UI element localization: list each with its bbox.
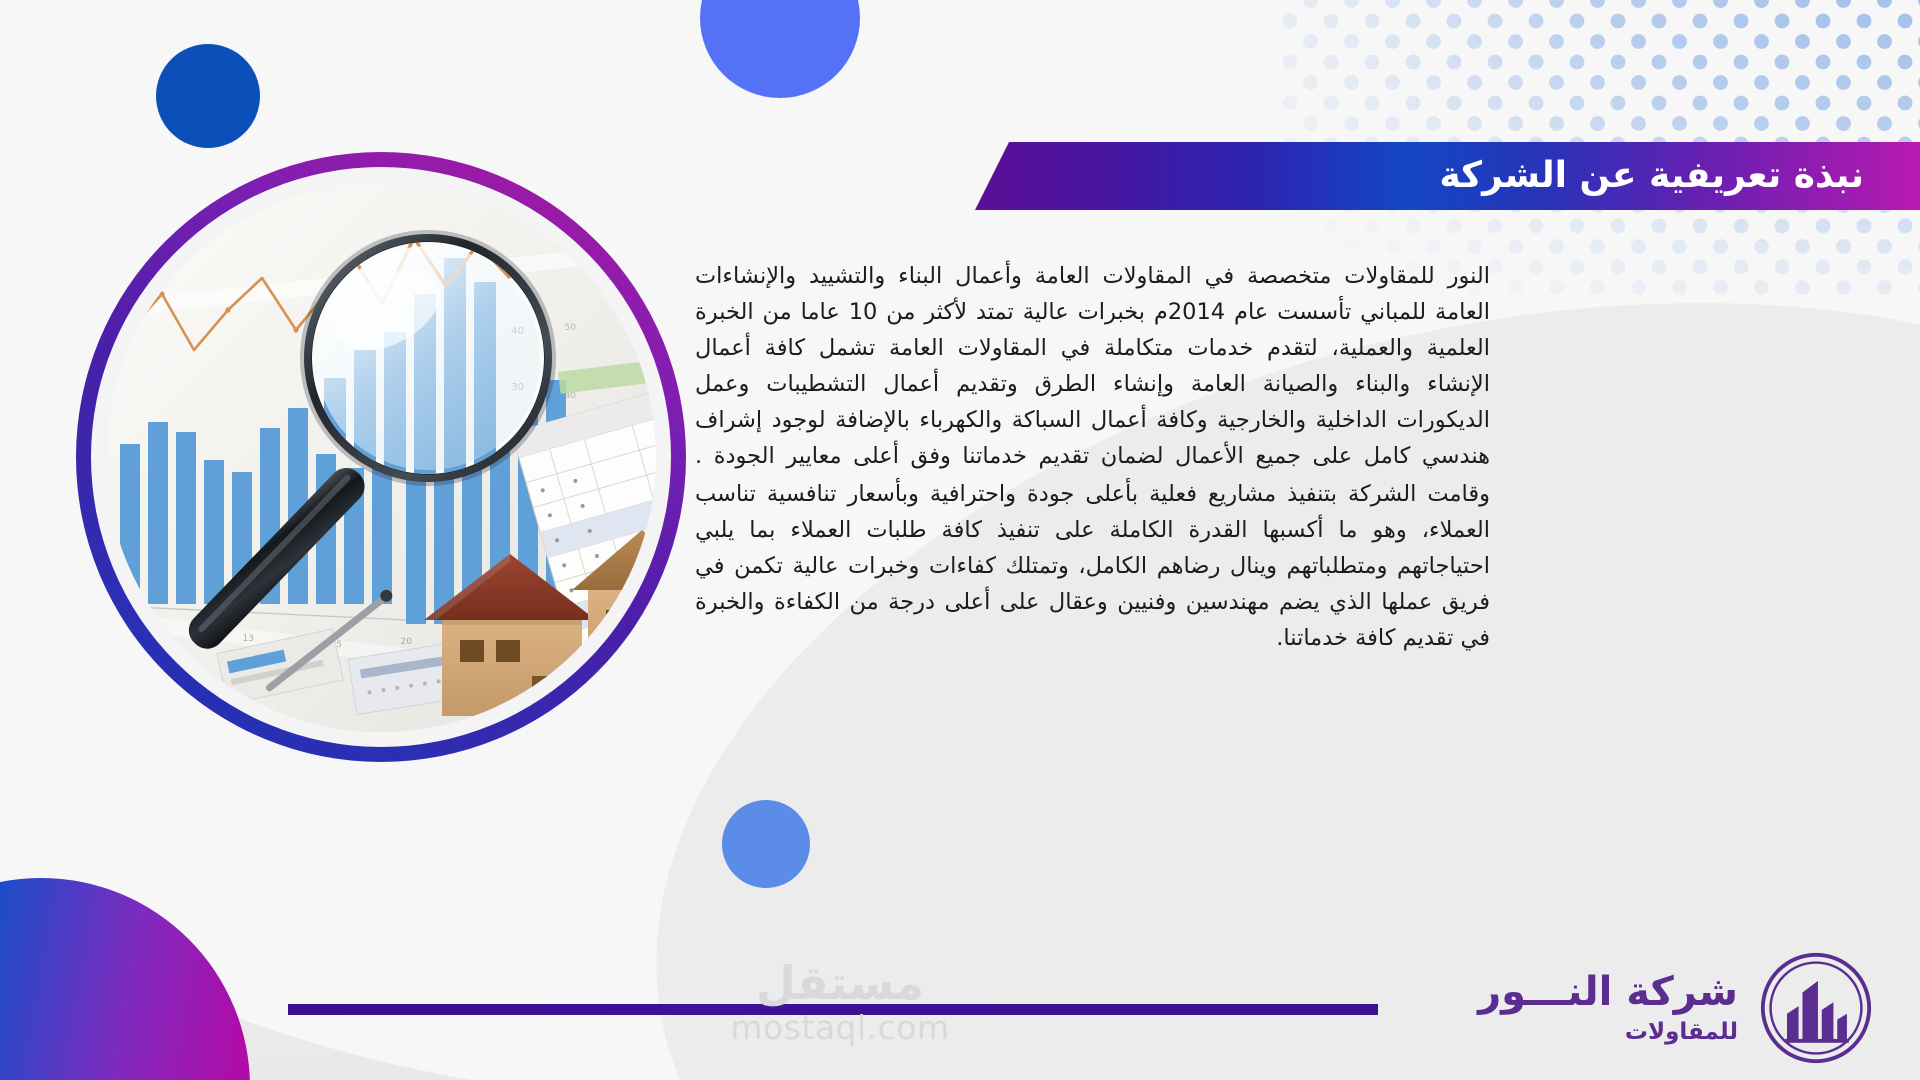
photo-disc: 1011 1213 1415 2021 2223 (106, 182, 656, 732)
decor-circle-periwinkle-small (722, 800, 810, 888)
logo-wordmark: شركة النـــور للمقاولات (1478, 972, 1738, 1044)
mostaql-watermark: مستقل mostaql.com (690, 958, 990, 1048)
magnifier: 504030 (300, 230, 556, 486)
business-analysis-photo: 1011 1213 1415 2021 2223 (106, 182, 656, 732)
company-logo: شركة النـــور للمقاولات (1478, 948, 1874, 1068)
buildings-circle-icon (1758, 950, 1874, 1066)
watermark-arabic-text: مستقل (690, 958, 990, 1008)
logo-company-name: شركة النـــور (1478, 972, 1738, 1012)
company-description: النور للمقاولات متخصصة في المقاولات العا… (695, 258, 1490, 656)
page-title: نبذة تعريفية عن الشركة (975, 158, 1864, 194)
slide-canvas: 1011 1213 1415 2021 2223 (0, 0, 1920, 1080)
logo-company-subtitle: للمقاولات (1478, 1021, 1738, 1044)
feature-image-circle: 1011 1213 1415 2021 2223 (76, 152, 686, 762)
section-title-banner: نبذة تعريفية عن الشركة (975, 142, 1920, 210)
svg-text:50: 50 (565, 323, 577, 333)
watermark-latin-text: mostaql.com (690, 1008, 990, 1048)
svg-text:10: 10 (113, 625, 125, 635)
svg-text:20: 20 (401, 637, 413, 647)
decor-circle-navy (156, 44, 260, 148)
description-paragraph-1: النور للمقاولات متخصصة في المقاولات العا… (695, 258, 1490, 474)
svg-text:13: 13 (243, 634, 254, 644)
description-paragraph-2: وقامت الشركة بتنفيذ مشاريع فعلية بأعلى ج… (695, 476, 1490, 656)
